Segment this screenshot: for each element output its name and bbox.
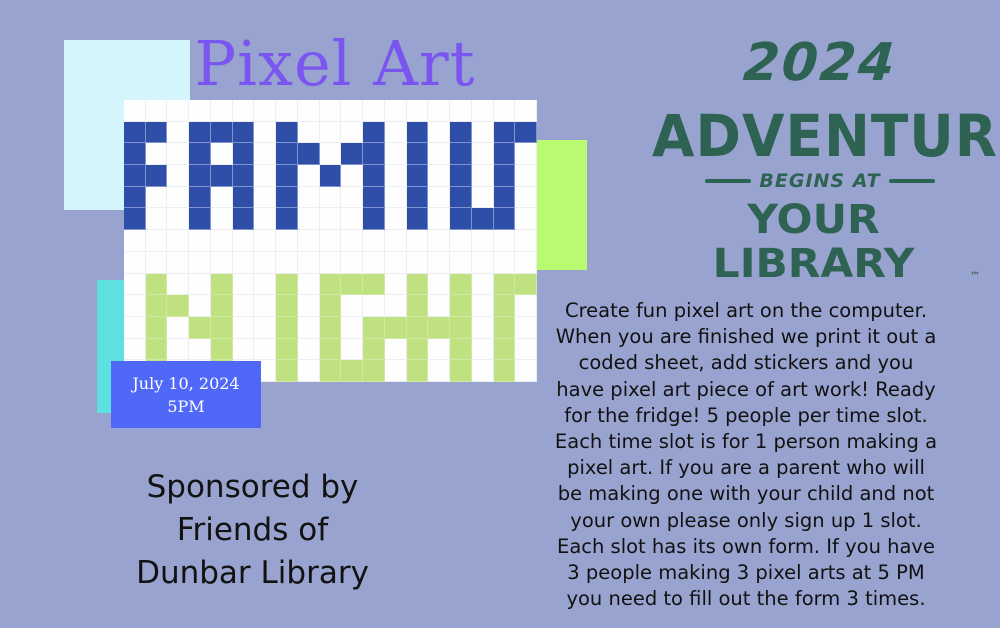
pixel-cell bbox=[494, 100, 516, 122]
pixel-cell bbox=[363, 339, 385, 361]
pixel-cell bbox=[167, 122, 189, 144]
pixel-cell bbox=[450, 230, 472, 252]
poster-canvas: Pixel Art July 10, 2024 5PM Sponsored by… bbox=[0, 0, 1000, 628]
pixel-cell bbox=[341, 100, 363, 122]
pixel-cell bbox=[385, 208, 407, 230]
pixel-cell bbox=[450, 143, 472, 165]
pixel-cell bbox=[472, 143, 494, 165]
pixel-cell bbox=[189, 252, 211, 274]
pixel-cell bbox=[189, 122, 211, 144]
pixel-cell bbox=[189, 339, 211, 361]
pixel-cell bbox=[363, 100, 385, 122]
pixel-cell bbox=[428, 274, 450, 296]
pixel-cell bbox=[363, 165, 385, 187]
pixel-cell bbox=[428, 165, 450, 187]
pixel-cell bbox=[320, 252, 342, 274]
pixel-cell bbox=[428, 339, 450, 361]
pixel-cell bbox=[298, 187, 320, 209]
pixel-cell bbox=[167, 230, 189, 252]
pixel-cell bbox=[428, 360, 450, 382]
pixel-cell bbox=[472, 274, 494, 296]
pixel-cell bbox=[146, 143, 168, 165]
pixel-cell bbox=[428, 317, 450, 339]
pixel-cell bbox=[494, 339, 516, 361]
pixel-cell bbox=[320, 100, 342, 122]
pixel-cell bbox=[233, 122, 255, 144]
pixel-cell bbox=[233, 187, 255, 209]
pixel-cell bbox=[124, 208, 146, 230]
pixel-cell bbox=[494, 165, 516, 187]
pixel-cell bbox=[320, 187, 342, 209]
pixel-cell bbox=[254, 122, 276, 144]
pixel-cell bbox=[341, 187, 363, 209]
logo-subject: YOUR LIBRARY bbox=[651, 198, 976, 286]
pixel-cell bbox=[515, 165, 537, 187]
pixel-cell bbox=[472, 100, 494, 122]
pixel-cell bbox=[385, 143, 407, 165]
pixel-cell bbox=[211, 143, 233, 165]
pixel-cell bbox=[472, 295, 494, 317]
pixel-cell bbox=[124, 274, 146, 296]
pixel-cell bbox=[341, 208, 363, 230]
pixel-cell bbox=[450, 339, 472, 361]
pixel-cell bbox=[211, 122, 233, 144]
pixel-cell bbox=[124, 339, 146, 361]
pixel-cell bbox=[515, 274, 537, 296]
pixel-cell bbox=[450, 100, 472, 122]
pixel-cell bbox=[472, 208, 494, 230]
pixel-cell bbox=[341, 317, 363, 339]
pixel-cell bbox=[515, 339, 537, 361]
pixel-cell bbox=[276, 165, 298, 187]
logo-headline: ADVENTURE bbox=[652, 104, 988, 168]
pixel-cell bbox=[407, 252, 429, 274]
pixel-cell bbox=[515, 230, 537, 252]
pixel-cell bbox=[407, 143, 429, 165]
pixel-cell bbox=[320, 230, 342, 252]
pixel-cell bbox=[472, 165, 494, 187]
pixel-cell bbox=[233, 100, 255, 122]
pixel-cell bbox=[298, 360, 320, 382]
pixel-cell bbox=[428, 208, 450, 230]
pixel-cell bbox=[450, 187, 472, 209]
pixel-cell bbox=[407, 317, 429, 339]
pixel-cell bbox=[363, 208, 385, 230]
pixel-cell bbox=[124, 165, 146, 187]
pixel-cell bbox=[450, 274, 472, 296]
pixel-cell bbox=[363, 295, 385, 317]
pixel-cell bbox=[494, 295, 516, 317]
page-title: Pixel Art bbox=[0, 28, 670, 100]
logo-subject-row: YOUR LIBRARY ™ bbox=[660, 198, 980, 286]
pixel-cell bbox=[211, 187, 233, 209]
pixel-cell bbox=[298, 295, 320, 317]
logo-rule-right-icon bbox=[889, 179, 935, 183]
pixel-cell bbox=[385, 317, 407, 339]
pixel-cell bbox=[124, 143, 146, 165]
pixel-cell bbox=[167, 165, 189, 187]
sponsor-line-2: Friends of bbox=[60, 509, 445, 552]
pixel-cell bbox=[211, 317, 233, 339]
pixel-cell bbox=[254, 143, 276, 165]
pixel-cell bbox=[276, 274, 298, 296]
sponsor-block: Sponsored by Friends of Dunbar Library bbox=[60, 466, 445, 595]
pixel-cell bbox=[428, 122, 450, 144]
logo-rule-left-icon bbox=[705, 179, 751, 183]
pixel-cell bbox=[494, 230, 516, 252]
event-time: 5PM bbox=[167, 395, 204, 418]
pixel-cell bbox=[146, 230, 168, 252]
pixel-cell bbox=[320, 208, 342, 230]
pixel-cell bbox=[320, 274, 342, 296]
pixel-cell bbox=[146, 295, 168, 317]
pixel-cell bbox=[298, 230, 320, 252]
pixel-cell bbox=[385, 339, 407, 361]
pixel-cell bbox=[450, 252, 472, 274]
pixel-cell bbox=[167, 208, 189, 230]
pixel-cell bbox=[494, 122, 516, 144]
pixel-cell bbox=[363, 274, 385, 296]
pixel-cell bbox=[189, 143, 211, 165]
program-logo: 2024 ADVENTURE BEGINS AT YOUR LIBRARY ™ bbox=[660, 34, 980, 286]
pixel-cell bbox=[407, 295, 429, 317]
pixel-cell bbox=[494, 208, 516, 230]
pixel-cell bbox=[363, 230, 385, 252]
pixel-cell bbox=[515, 317, 537, 339]
pixel-cell bbox=[276, 230, 298, 252]
pixel-cell bbox=[146, 165, 168, 187]
pixel-cell bbox=[407, 339, 429, 361]
pixel-cell bbox=[211, 165, 233, 187]
pixel-cell bbox=[450, 317, 472, 339]
pixel-cell bbox=[146, 208, 168, 230]
pixel-cell bbox=[472, 252, 494, 274]
pixel-cell bbox=[320, 143, 342, 165]
pixel-cell bbox=[298, 252, 320, 274]
pixel-cell bbox=[189, 274, 211, 296]
pixel-cell bbox=[472, 230, 494, 252]
pixel-cell bbox=[124, 187, 146, 209]
pixel-cell bbox=[363, 122, 385, 144]
pixel-cell bbox=[298, 122, 320, 144]
pixel-cell bbox=[276, 187, 298, 209]
pixel-cell bbox=[494, 274, 516, 296]
pixel-cell bbox=[515, 208, 537, 230]
pixel-cell bbox=[167, 274, 189, 296]
pixel-cell bbox=[407, 165, 429, 187]
pixel-cell bbox=[515, 122, 537, 144]
pixel-cell bbox=[472, 187, 494, 209]
pixel-cell bbox=[341, 339, 363, 361]
pixel-cell bbox=[428, 230, 450, 252]
pixel-cell bbox=[341, 295, 363, 317]
pixel-cell bbox=[363, 252, 385, 274]
pixel-cell bbox=[450, 122, 472, 144]
pixel-art-canvas bbox=[124, 100, 537, 382]
pixel-cell bbox=[189, 165, 211, 187]
pixel-cell bbox=[167, 317, 189, 339]
pixel-cell bbox=[276, 122, 298, 144]
pixel-cell bbox=[211, 252, 233, 274]
pixel-cell bbox=[450, 208, 472, 230]
description-text: Create fun pixel art on the computer. Wh… bbox=[552, 298, 940, 612]
pixel-cell bbox=[276, 339, 298, 361]
pixel-cell bbox=[298, 143, 320, 165]
pixel-cell bbox=[167, 143, 189, 165]
pixel-cell bbox=[320, 317, 342, 339]
pixel-cell bbox=[341, 360, 363, 382]
sponsor-line-1: Sponsored by bbox=[60, 466, 445, 509]
pixel-cell bbox=[146, 187, 168, 209]
pixel-grid bbox=[124, 100, 537, 382]
pixel-cell bbox=[407, 274, 429, 296]
pixel-cell bbox=[407, 187, 429, 209]
pixel-cell bbox=[298, 317, 320, 339]
pixel-cell bbox=[167, 100, 189, 122]
pixel-cell bbox=[515, 143, 537, 165]
pixel-cell bbox=[320, 122, 342, 144]
sponsor-line-3: Dunbar Library bbox=[60, 552, 445, 595]
pixel-cell bbox=[189, 208, 211, 230]
pixel-cell bbox=[146, 122, 168, 144]
pixel-cell bbox=[363, 317, 385, 339]
pixel-cell bbox=[320, 165, 342, 187]
pixel-cell bbox=[189, 187, 211, 209]
pixel-cell bbox=[167, 252, 189, 274]
pixel-cell bbox=[515, 295, 537, 317]
pixel-cell bbox=[233, 208, 255, 230]
pixel-cell bbox=[167, 339, 189, 361]
pixel-cell bbox=[254, 165, 276, 187]
pixel-cell bbox=[515, 252, 537, 274]
pixel-cell bbox=[167, 295, 189, 317]
pixel-cell bbox=[385, 274, 407, 296]
pixel-cell bbox=[407, 208, 429, 230]
pixel-cell bbox=[428, 187, 450, 209]
pixel-cell bbox=[298, 100, 320, 122]
pixel-cell bbox=[363, 360, 385, 382]
pixel-cell bbox=[385, 100, 407, 122]
pixel-cell bbox=[385, 295, 407, 317]
pixel-cell bbox=[124, 252, 146, 274]
pixel-cell bbox=[428, 143, 450, 165]
pixel-cell bbox=[494, 360, 516, 382]
pixel-cell bbox=[341, 143, 363, 165]
pixel-cell bbox=[276, 100, 298, 122]
event-date: July 10, 2024 bbox=[132, 372, 239, 395]
event-date-badge: July 10, 2024 5PM bbox=[111, 361, 261, 428]
pixel-cell bbox=[494, 143, 516, 165]
pixel-cell bbox=[211, 208, 233, 230]
pixel-cell bbox=[320, 295, 342, 317]
pixel-cell bbox=[407, 100, 429, 122]
pixel-cell bbox=[254, 100, 276, 122]
pixel-cell bbox=[124, 230, 146, 252]
pixel-cell bbox=[146, 100, 168, 122]
pixel-cell bbox=[189, 100, 211, 122]
pixel-cell bbox=[254, 317, 276, 339]
pixel-cell bbox=[450, 295, 472, 317]
pixel-cell bbox=[494, 252, 516, 274]
pixel-cell bbox=[472, 339, 494, 361]
pixel-cell bbox=[320, 360, 342, 382]
pixel-cell bbox=[428, 252, 450, 274]
pixel-cell bbox=[189, 317, 211, 339]
pixel-cell bbox=[385, 360, 407, 382]
pixel-cell bbox=[254, 274, 276, 296]
pixel-cell bbox=[472, 360, 494, 382]
pixel-cell bbox=[254, 339, 276, 361]
pixel-cell bbox=[211, 100, 233, 122]
pixel-cell bbox=[341, 165, 363, 187]
pixel-cell bbox=[494, 317, 516, 339]
pixel-cell bbox=[494, 187, 516, 209]
pixel-cell bbox=[363, 187, 385, 209]
pixel-cell bbox=[233, 274, 255, 296]
pixel-cell bbox=[211, 339, 233, 361]
pixel-cell bbox=[385, 230, 407, 252]
pixel-cell bbox=[298, 165, 320, 187]
pixel-cell bbox=[407, 360, 429, 382]
pixel-cell bbox=[233, 252, 255, 274]
pixel-cell bbox=[407, 230, 429, 252]
pixel-cell bbox=[385, 187, 407, 209]
pixel-cell bbox=[276, 252, 298, 274]
decorative-rect-bright-green bbox=[537, 140, 587, 270]
pixel-cell bbox=[298, 274, 320, 296]
pixel-cell bbox=[450, 165, 472, 187]
pixel-cell bbox=[189, 230, 211, 252]
pixel-cell bbox=[124, 122, 146, 144]
pixel-cell bbox=[363, 143, 385, 165]
pixel-cell bbox=[472, 317, 494, 339]
pixel-cell bbox=[146, 317, 168, 339]
pixel-cell bbox=[276, 295, 298, 317]
pixel-cell bbox=[341, 274, 363, 296]
pixel-cell bbox=[233, 295, 255, 317]
pixel-cell bbox=[254, 187, 276, 209]
pixel-cell bbox=[233, 339, 255, 361]
pixel-cell bbox=[254, 252, 276, 274]
pixel-cell bbox=[341, 230, 363, 252]
pixel-cell bbox=[211, 230, 233, 252]
pixel-cell bbox=[254, 295, 276, 317]
pixel-cell bbox=[298, 339, 320, 361]
pixel-cell bbox=[254, 230, 276, 252]
pixel-cell bbox=[233, 230, 255, 252]
pixel-cell bbox=[407, 122, 429, 144]
pixel-cell bbox=[124, 100, 146, 122]
pixel-cell bbox=[189, 295, 211, 317]
pixel-cell bbox=[124, 295, 146, 317]
pixel-cell bbox=[233, 317, 255, 339]
pixel-cell bbox=[341, 122, 363, 144]
pixel-cell bbox=[320, 339, 342, 361]
pixel-cell bbox=[385, 252, 407, 274]
pixel-cell bbox=[233, 143, 255, 165]
pixel-cell bbox=[276, 360, 298, 382]
pixel-cell bbox=[146, 274, 168, 296]
pixel-cell bbox=[276, 143, 298, 165]
logo-tagline: BEGINS AT bbox=[759, 170, 880, 192]
pixel-cell bbox=[428, 100, 450, 122]
pixel-cell bbox=[515, 187, 537, 209]
pixel-cell bbox=[167, 187, 189, 209]
pixel-cell bbox=[211, 274, 233, 296]
pixel-cell bbox=[385, 165, 407, 187]
pixel-cell bbox=[450, 360, 472, 382]
pixel-cell bbox=[428, 295, 450, 317]
pixel-cell bbox=[146, 339, 168, 361]
logo-tagline-row: BEGINS AT bbox=[660, 170, 980, 192]
pixel-cell bbox=[515, 100, 537, 122]
pixel-cell bbox=[385, 122, 407, 144]
pixel-cell bbox=[254, 208, 276, 230]
pixel-cell bbox=[341, 252, 363, 274]
pixel-cell bbox=[124, 317, 146, 339]
logo-year: 2024 bbox=[658, 34, 982, 92]
pixel-cell bbox=[515, 360, 537, 382]
pixel-cell bbox=[472, 122, 494, 144]
pixel-cell bbox=[146, 252, 168, 274]
pixel-cell bbox=[276, 317, 298, 339]
pixel-cell bbox=[298, 208, 320, 230]
pixel-cell bbox=[233, 165, 255, 187]
pixel-cell bbox=[211, 295, 233, 317]
pixel-cell bbox=[276, 208, 298, 230]
